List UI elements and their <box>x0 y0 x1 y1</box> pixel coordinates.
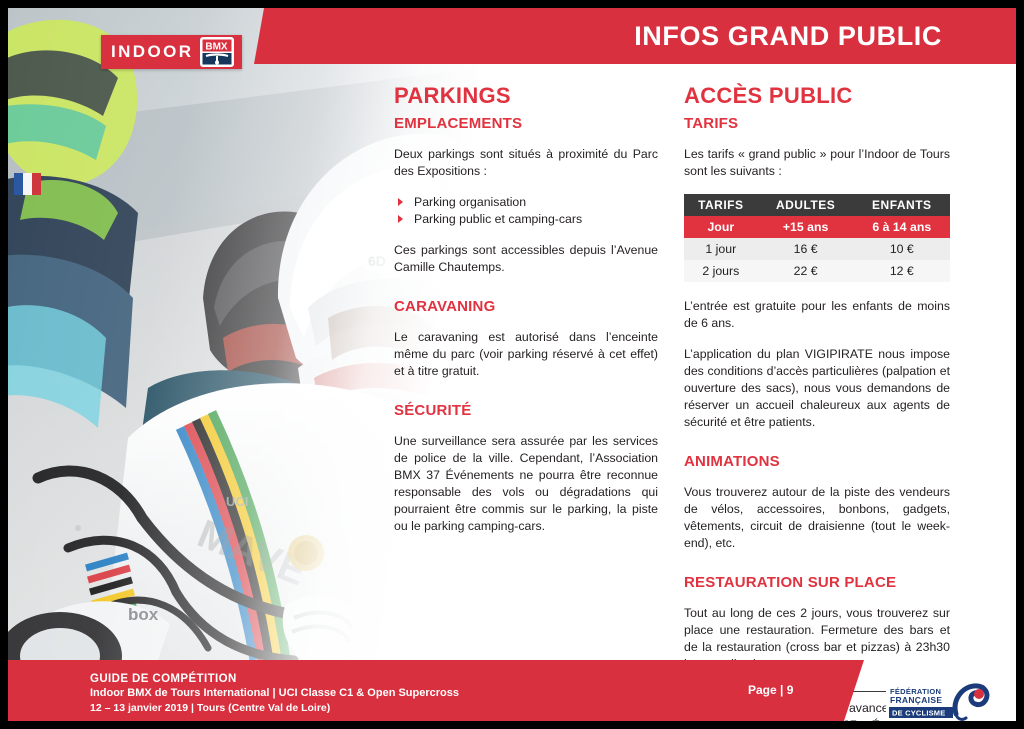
bmx-badge-icon: BMX <box>200 37 234 67</box>
ffc-logo: FÉDÉRATION FRANÇAISE DE CYCLISME <box>886 680 992 721</box>
cell-jour-adultes: +15 ans <box>758 216 854 238</box>
indoor-bmx-logo: INDOOR BMX <box>101 35 242 69</box>
page-number: Page | 9 <box>748 683 793 697</box>
svg-text:DE CYCLISME: DE CYCLISME <box>892 709 945 718</box>
subsection-emplacements: EMPLACEMENTS <box>394 115 658 132</box>
entree-gratuite-paragraph: L’entrée est gratuite pour les enfants d… <box>684 298 950 332</box>
parkings-intro-paragraph: Deux parkings sont situés à proximité du… <box>394 146 658 180</box>
footer-event-name: Indoor BMX de Tours International | UCI … <box>90 686 459 701</box>
list-item-label: Parking public et camping-cars <box>414 212 582 226</box>
tarifs-intro-paragraph: Les tarifs « grand public » pour l’Indoo… <box>684 146 950 180</box>
subsection-animations: ANIMATIONS <box>684 453 950 470</box>
cell-adultes-price: 16 € <box>758 238 854 260</box>
svg-text:6D: 6D <box>368 253 386 269</box>
cell-enfants-price: 12 € <box>854 260 950 282</box>
section-title-parkings: PARKINGS <box>394 84 658 108</box>
page-canvas: 48 6D <box>8 8 1016 721</box>
list-item-label: Parking organisation <box>414 195 526 209</box>
cell-jour-enfants: 6 à 14 ans <box>854 216 950 238</box>
table-row: 1 jour 16 € 10 € <box>684 238 950 260</box>
vigipirate-paragraph: L’application du plan VIGIPIRATE nous im… <box>684 346 950 431</box>
tarifs-table: TARIFS ADULTES ENFANTS Jour +15 ans 6 à … <box>684 194 950 282</box>
svg-text:BMX: BMX <box>206 41 229 52</box>
table-row: 2 jours 22 € 12 € <box>684 260 950 282</box>
cell-enfants-price: 10 € <box>854 238 950 260</box>
column-acces-public: ACCÈS PUBLIC TARIFS Les tarifs « grand p… <box>684 84 950 721</box>
list-item: Parking organisation <box>394 194 658 211</box>
cell-label: 1 jour <box>684 238 758 260</box>
page-title: INFOS GRAND PUBLIC <box>634 21 942 52</box>
column-parkings: PARKINGS EMPLACEMENTS Deux parkings sont… <box>394 84 658 535</box>
cell-label: 2 jours <box>684 260 758 282</box>
svg-text:box: box <box>128 605 159 624</box>
parkings-bullet-list: Parking organisation Parking public et c… <box>394 194 658 228</box>
footer-guide-label: GUIDE DE COMPÉTITION <box>90 672 459 686</box>
caravaning-paragraph: Le caravaning est autorisé dans l’encein… <box>394 329 658 380</box>
table-header-row: TARIFS ADULTES ENFANTS <box>684 194 950 216</box>
column-header-tarifs: TARIFS <box>684 194 758 216</box>
subsection-caravaning: CARAVANING <box>394 298 658 315</box>
subsection-securite: SÉCURITÉ <box>394 402 658 419</box>
column-header-adultes: ADULTES <box>758 194 854 216</box>
subsection-tarifs: TARIFS <box>684 115 950 132</box>
page-footer: GUIDE DE COMPÉTITION Indoor BMX de Tours… <box>8 660 1016 721</box>
footer-event-info: GUIDE DE COMPÉTITION Indoor BMX de Tours… <box>90 672 459 716</box>
animations-paragraph: Vous trouverez autour de la piste des ve… <box>684 484 950 552</box>
column-header-enfants: ENFANTS <box>854 194 950 216</box>
parkings-access-paragraph: Ces parkings sont accessibles depuis l’A… <box>394 242 658 276</box>
footer-event-date: 12 – 13 janvier 2019 | Tours (Centre Val… <box>90 701 459 716</box>
triangle-bullet-icon <box>398 215 403 223</box>
subsection-restauration: RESTAURATION SUR PLACE <box>684 574 950 591</box>
svg-text:UCI: UCI <box>226 494 248 509</box>
triangle-bullet-icon <box>398 198 403 206</box>
section-title-acces-public: ACCÈS PUBLIC <box>684 84 950 108</box>
table-row: Jour +15 ans 6 à 14 ans <box>684 216 950 238</box>
cell-adultes-price: 22 € <box>758 260 854 282</box>
logo-wordmark: INDOOR <box>111 42 193 62</box>
cell-jour-label: Jour <box>684 216 758 238</box>
svg-text:FRANÇAISE: FRANÇAISE <box>890 695 942 705</box>
securite-paragraph: Une surveillance sera assurée par les se… <box>394 433 658 535</box>
list-item: Parking public et camping-cars <box>394 211 658 228</box>
